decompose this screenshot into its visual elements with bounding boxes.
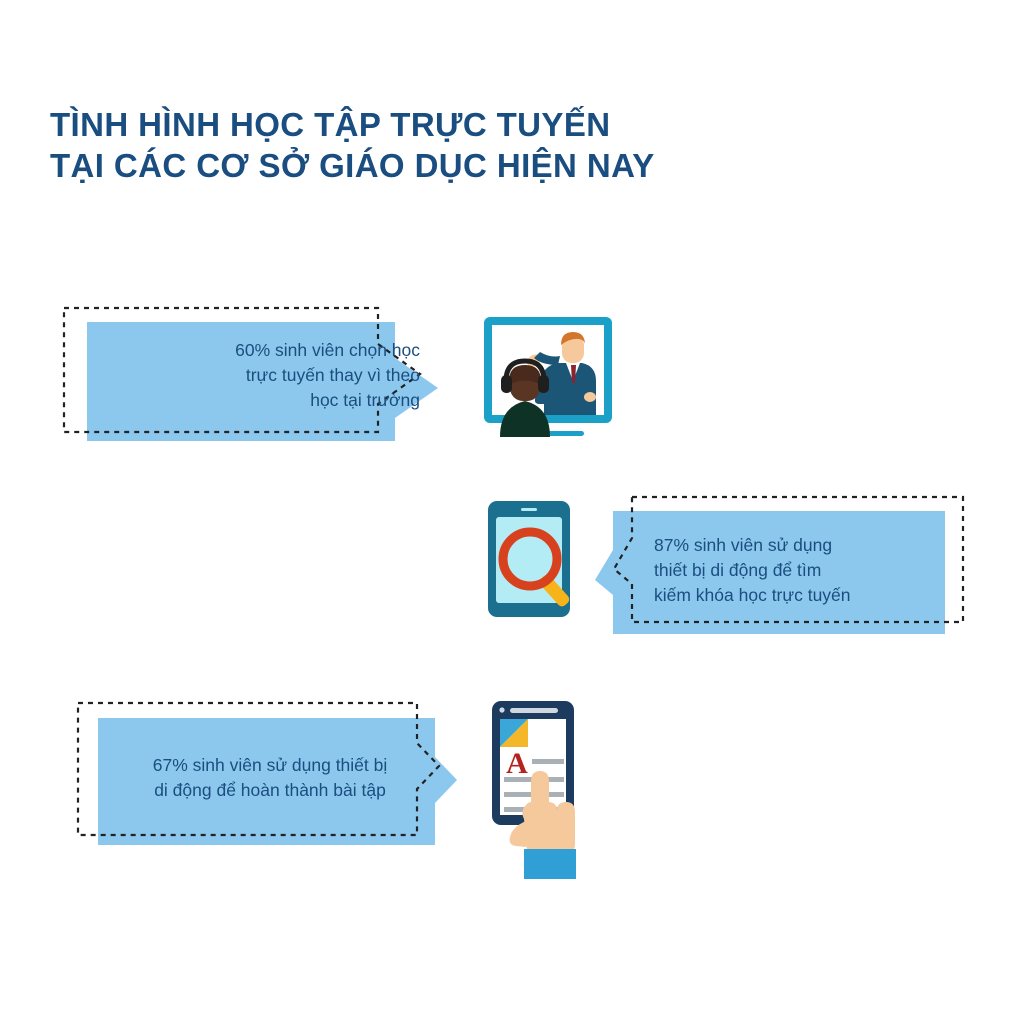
- grade-letter: A: [506, 747, 528, 780]
- phone-speaker: [510, 708, 558, 713]
- video-lecture-graphic: [462, 305, 627, 445]
- paper-line-1: [532, 759, 564, 764]
- hand-palm: [522, 802, 575, 853]
- phone-camera-icon: [499, 707, 504, 712]
- callout-1-text: 60% sinh viên chọn học trực tuyến thay v…: [80, 338, 420, 413]
- page-title-line-1: TÌNH HÌNH HỌC TẬP TRỰC TUYẾN: [50, 104, 790, 145]
- page-title-line-2: TẠI CÁC CƠ SỞ GIÁO DỤC HIỆN NAY: [50, 145, 790, 186]
- phone-assignment-icon: A: [480, 697, 610, 887]
- tablet-speaker: [521, 508, 537, 511]
- video-lecture-icon: [462, 305, 627, 445]
- headphone-cup-right: [538, 375, 549, 393]
- page-title: TÌNH HÌNH HỌC TẬP TRỰC TUYẾN TẠI CÁC CƠ …: [50, 104, 790, 186]
- callout-card-87: 87% sinh viên sử dụng thiết bị di động đ…: [586, 488, 976, 643]
- hand-sleeve: [524, 849, 576, 879]
- callout-card-67: 67% sinh viên sử dụng thiết bị di động đ…: [70, 695, 470, 855]
- callout-3-text: 67% sinh viên sử dụng thiết bị di động đ…: [90, 753, 450, 803]
- infographic-canvas: TÌNH HÌNH HỌC TẬP TRỰC TUYẾN TẠI CÁC CƠ …: [0, 0, 1024, 1024]
- callout-2-text: 87% sinh viên sử dụng thiết bị di động đ…: [654, 533, 964, 608]
- callout-card-60: 60% sinh viên chọn học trực tuyến thay v…: [60, 300, 480, 450]
- tablet-search-icon: [474, 495, 604, 635]
- tablet-search-graphic: [474, 495, 604, 635]
- phone-assignment-graphic: A: [480, 697, 610, 887]
- headphone-cup-left: [501, 375, 512, 393]
- teacher-hand-right: [584, 392, 596, 402]
